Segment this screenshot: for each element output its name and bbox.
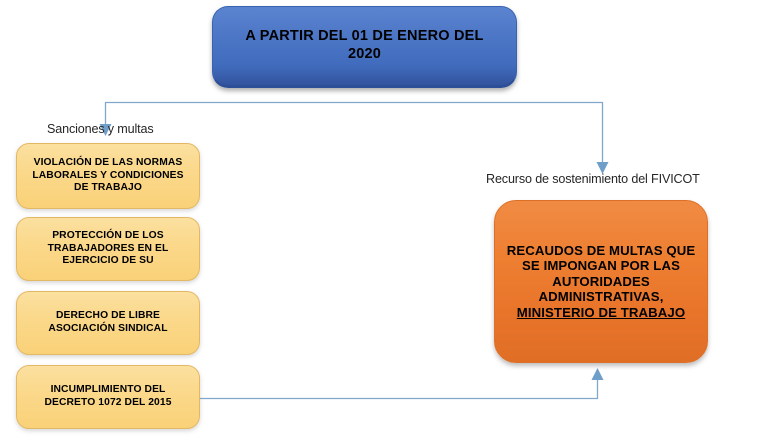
diagram-canvas: A PARTIR DEL 01 DE ENERO DEL 2020 Sancio… [0,0,768,444]
edge-label-recurso-fivicot: Recurso de sostenimiento del FIVICOT [486,172,700,186]
edge-label-sanciones-y-multas: Sanciones y multas [47,122,154,136]
connector-bottom-feedback [200,378,598,399]
node-recaudos-multas-label: RECAUDOS DE MULTAS QUE SE IMPONGAN POR L… [507,243,696,305]
node-incumplimiento-decreto-label: INCUMPLIMIENTO DEL DECRETO 1072 DEL 2015 [25,384,191,409]
node-recaudos-multas[interactable]: RECAUDOS DE MULTAS QUE SE IMPONGAN POR L… [494,200,708,363]
node-derecho-asociacion-sindical[interactable]: DERECHO DE LIBRE ASOCIACIÓN SINDICAL [16,291,200,355]
node-proteccion-trabajadores-label: PROTECCIÓN DE LOS TRABAJADORES EN EL EJE… [25,230,191,268]
node-violacion-normas-label: VIOLACIÓN DE LAS NORMAS LABORALES Y COND… [25,157,191,195]
node-incumplimiento-decreto[interactable]: INCUMPLIMIENTO DEL DECRETO 1072 DEL 2015 [16,365,200,429]
node-recaudos-multas-text: RECAUDOS DE MULTAS QUE SE IMPONGAN POR L… [505,243,697,321]
node-start-date[interactable]: A PARTIR DEL 01 DE ENERO DEL 2020 [212,6,517,88]
node-derecho-asociacion-sindical-label: DERECHO DE LIBRE ASOCIACIÓN SINDICAL [25,310,191,335]
node-proteccion-trabajadores[interactable]: PROTECCIÓN DE LOS TRABAJADORES EN EL EJE… [16,217,200,281]
node-violacion-normas[interactable]: VIOLACIÓN DE LAS NORMAS LABORALES Y COND… [16,143,200,209]
arrowhead-up-feedback [592,368,604,380]
node-start-date-label: A PARTIR DEL 01 DE ENERO DEL 2020 [227,28,502,63]
node-recaudos-multas-ministerio-label: MINISTERIO DE TRABAJO [517,305,685,320]
